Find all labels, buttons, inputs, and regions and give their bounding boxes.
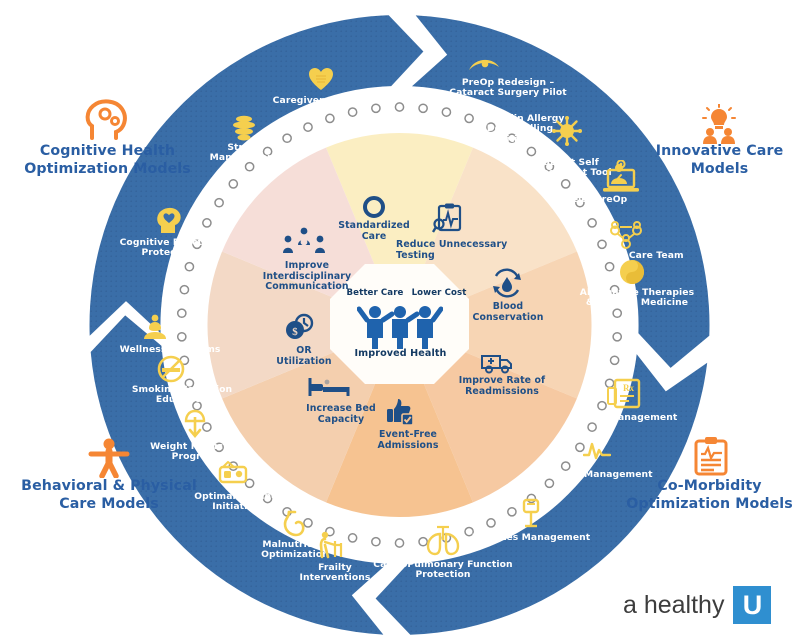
ring-dot — [372, 538, 380, 546]
elderly-walker-icon — [316, 531, 346, 563]
lungs-icon — [425, 524, 461, 560]
head-gears-icon — [83, 98, 131, 144]
network-people-icon — [608, 219, 644, 253]
stacked-stones-icon — [230, 113, 258, 145]
ring-dot — [419, 104, 427, 112]
lightbulb-people-icon — [693, 104, 745, 148]
ring-dot — [326, 114, 334, 122]
rx-prescription-icon: Rx — [607, 377, 641, 413]
inner-item-increase-bed-capacity: Increase BedCapacity — [286, 404, 396, 425]
ring-dot — [611, 356, 619, 364]
inner-item-reduce-testing: Reduce Unnecessary Testing — [396, 240, 538, 261]
outer-item-frailty-interventions: FrailtyInterventions — [280, 563, 390, 584]
ring-dot — [545, 479, 553, 487]
food-tray-icon — [218, 461, 248, 491]
heart-hands-icon — [308, 66, 334, 96]
yoga-person-icon — [142, 313, 168, 347]
down-arrow-scale-icon — [182, 409, 208, 443]
ring-dot — [215, 199, 223, 207]
glucose-meter-icon — [519, 498, 543, 534]
infographic-canvas: Cognitive HealthOptimization Models Inno… — [0, 0, 799, 635]
ring-dot — [203, 219, 211, 227]
head-heart-icon — [155, 206, 183, 238]
ring-dot — [613, 309, 621, 317]
svg-text:Rx: Rx — [623, 383, 634, 393]
outer-item-cardiopulmonary: CardioPulmonary FunctionProtection — [371, 560, 515, 581]
ring-dot — [527, 147, 535, 155]
ambulance-icon — [480, 352, 514, 378]
center-label-lower-cost: Lower Cost — [404, 289, 474, 299]
dollar-clock-icon: $ — [284, 313, 316, 347]
blood-drop-cycle-icon — [490, 268, 524, 304]
stomach-icon — [281, 510, 307, 542]
ring-dot — [304, 123, 312, 131]
outer-item-anemia-management: Anemia Management — [532, 470, 662, 480]
outer-item-diabetes-management: Diabetes Management — [467, 533, 595, 543]
inner-item-improve-communication: ImproveInterdisciplinaryCommunication — [255, 261, 359, 293]
yin-yang-icon — [619, 259, 645, 289]
ring-dot — [178, 309, 186, 317]
ring-dot — [606, 263, 614, 271]
ring-dot — [613, 333, 621, 341]
ring-dot — [588, 423, 596, 431]
outer-item-wellness-programs: Wellness Programs — [107, 345, 233, 355]
no-smoking-icon — [157, 355, 185, 387]
outer-item-weight-reduction: Weight ReductionPrograms — [136, 442, 258, 463]
three-people-icon — [357, 302, 443, 354]
ring-dot — [283, 134, 291, 142]
logo-text: a healthy — [623, 591, 724, 620]
outer-item-optimal-fasting: Optimal FastingInitiative — [178, 492, 294, 513]
person-arms-out-icon — [87, 438, 131, 482]
corner-title-cognitive-health: Cognitive HealthOptimization Models — [0, 143, 215, 179]
clipboard-chart-icon — [692, 436, 730, 480]
ring-dot — [562, 180, 570, 188]
pulse-wave-icon — [583, 437, 611, 467]
ring-dot — [487, 519, 495, 527]
inner-item-event-free-admissions: Event-FreeAdmissions — [353, 430, 463, 451]
outer-item-preop-redesign: PreOp Redesign –Cataract Surgery Pilot — [430, 78, 586, 99]
outer-item-pain-management: Pain Management — [575, 413, 685, 423]
outer-item-cognitive-function-protection: Cognitive FunctionProtection — [107, 238, 231, 259]
corner-title-innovative-care: Innovative CareModels — [640, 143, 799, 179]
inner-item-or-utilization: ORUtilization — [266, 346, 342, 367]
ring-dot — [598, 240, 606, 248]
logo: a healthy U — [623, 586, 771, 624]
hospital-bed-icon — [307, 376, 351, 402]
ring-dot — [395, 539, 403, 547]
ring-dot — [588, 219, 596, 227]
inner-item-blood-conservation: BloodConservation — [462, 302, 554, 323]
eye-icon — [467, 55, 501, 79]
laptop-camera-icon — [602, 160, 640, 198]
ring-dot — [180, 286, 188, 294]
center-label-better-care: Better Care — [340, 289, 410, 299]
clipboard-ecg-icon — [432, 203, 462, 239]
ring-dot — [229, 180, 237, 188]
cycle-arrows-icon — [363, 196, 385, 222]
team-meeting-icon — [283, 225, 325, 261]
outer-item-alternative-therapies: Alternative Therapies& Eastern Medicine — [576, 288, 698, 309]
virus-icon — [552, 116, 582, 150]
ring-dot — [395, 103, 403, 111]
ring-dot — [185, 263, 193, 271]
ring-dot — [508, 508, 516, 516]
ring-dot — [178, 333, 186, 341]
ring-dot — [442, 108, 450, 116]
ring-dot — [598, 402, 606, 410]
ring-dot — [246, 163, 254, 171]
outer-item-stress-management: StressManagement — [189, 143, 299, 164]
ring-dot — [349, 108, 357, 116]
svg-text:$: $ — [292, 326, 298, 338]
outer-item-smoking-cessation: Smoking CessationEducation — [116, 385, 248, 406]
outer-item-caregiver-support: Caregiver Support — [256, 96, 386, 106]
logo-mark: U — [733, 586, 771, 624]
corner-title-co-morbidity: Co-MorbidityOptimization Models — [620, 478, 799, 514]
inner-item-improve-readmissions: Improve Rate ofReadmissions — [446, 376, 558, 397]
